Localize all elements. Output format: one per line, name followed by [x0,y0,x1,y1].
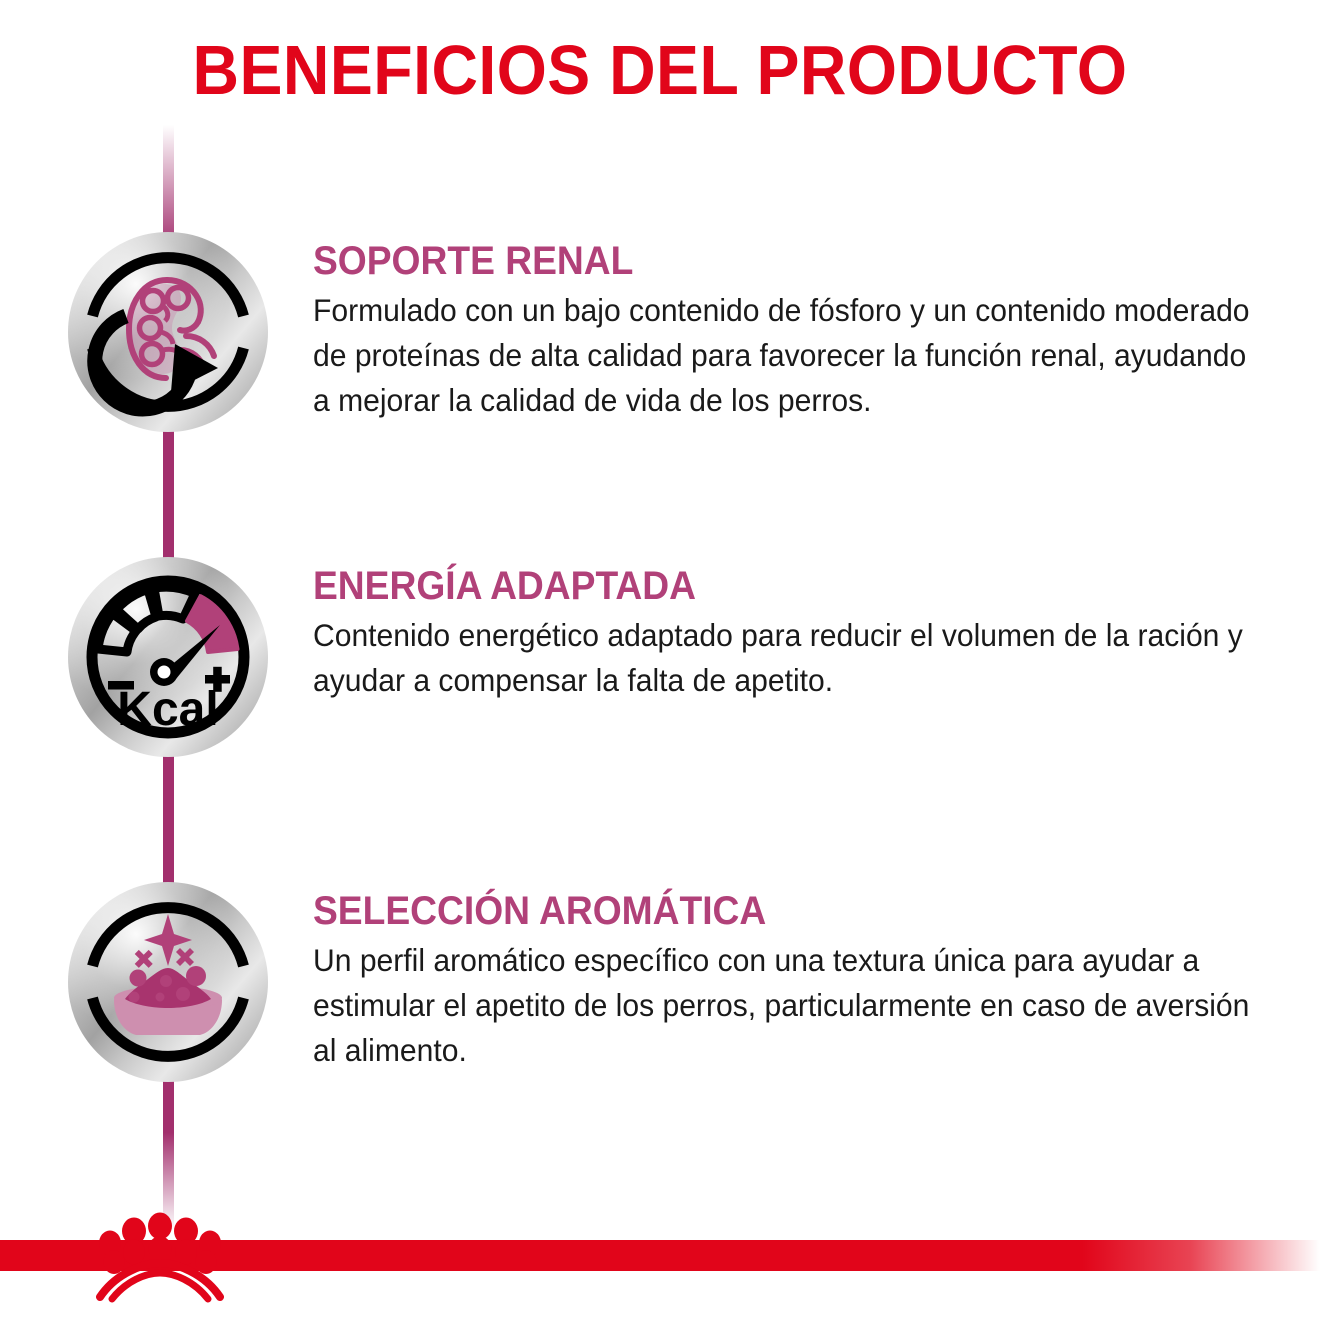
benefit-description: Contenido energético adaptado para reduc… [313,613,1263,703]
benefit-text-block: SOPORTE RENAL Formulado con un bajo cont… [313,238,1288,423]
benefit-text-block: SELECCIÓN AROMÁTICA Un perfil aromático … [313,888,1288,1073]
kidney-renal-support-icon [68,232,268,432]
footer-bar-right [240,1240,1320,1271]
footer-bar-left [0,1240,248,1271]
benefit-icon-container: Kcal [68,557,268,757]
page-title: BENEFICIOS DEL PRODUCTO [53,30,1267,110]
product-benefits-page: BENEFICIOS DEL PRODUCTO [0,0,1320,1320]
benefit-text-block: ENERGÍA ADAPTADA Contenido energético ad… [313,563,1288,703]
kcal-gauge-icon: Kcal [68,557,268,757]
benefit-heading: SELECCIÓN AROMÁTICA [313,888,1220,934]
gauge-kcal-label: Kcal [117,683,218,736]
royal-canin-crown-logo [90,1205,230,1303]
connector-line-bottom [163,1080,174,1230]
benefit-description: Un perfil aromático específico con una t… [313,938,1263,1073]
benefit-heading: ENERGÍA ADAPTADA [313,563,1220,609]
benefit-icon-container [68,882,268,1082]
benefit-description: Formulado con un bajo contenido de fósfo… [313,288,1263,423]
aroma-food-bowl-icon [68,882,268,1082]
benefit-heading: SOPORTE RENAL [313,238,1220,284]
benefit-icon-container [68,232,268,432]
